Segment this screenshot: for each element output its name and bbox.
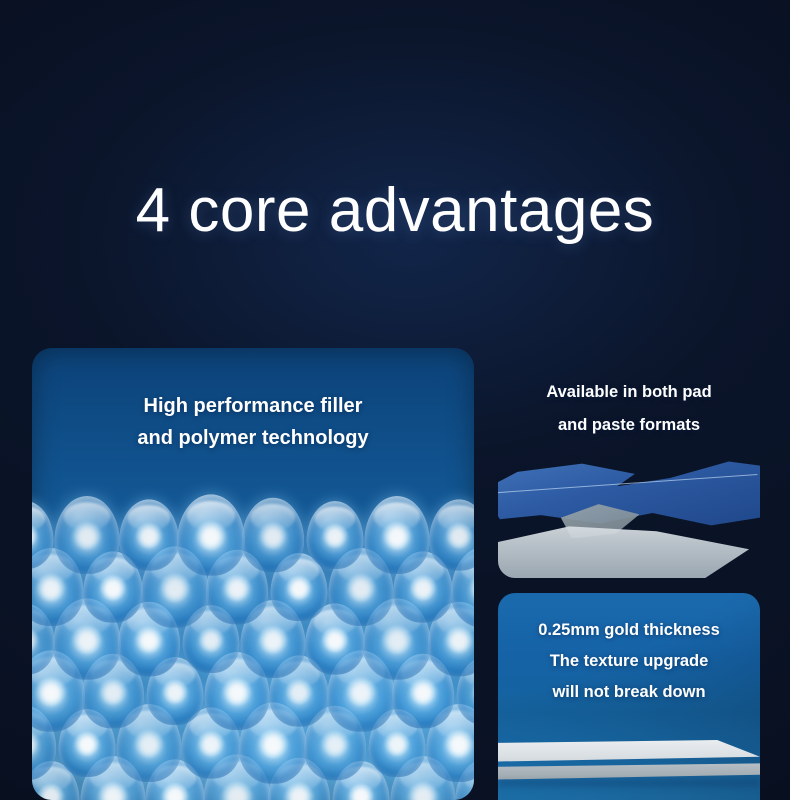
bubble-dome xyxy=(32,501,54,569)
bubble-row xyxy=(32,498,474,560)
advantage-card-right-top-line-2: and paste formats xyxy=(498,409,760,442)
advantage-card-right-top-text: Available in both pad and paste formats xyxy=(498,350,760,442)
advantage-card-right-bottom-line-3: will not break down xyxy=(498,677,760,708)
bubble-dome xyxy=(242,498,305,573)
advantage-card-right-bottom-line-1: 0.25mm gold thickness xyxy=(498,615,760,646)
bubble-dome xyxy=(364,496,429,574)
advantage-card-left-line-2: and polymer technology xyxy=(32,422,474,454)
advantage-card-high-performance-filler[interactable]: High performance filler and polymer tech… xyxy=(32,348,474,800)
advantage-card-gold-thickness[interactable]: 0.25mm gold thickness The texture upgrad… xyxy=(498,593,760,800)
bubble-array-image xyxy=(32,506,474,800)
advantage-card-right-bottom-line-2: The texture upgrade xyxy=(498,646,760,677)
bubble-dome xyxy=(54,496,119,574)
thermal-pad-slab-image xyxy=(498,708,760,800)
bubble-dome xyxy=(306,501,363,569)
advantage-card-right-top-line-1: Available in both pad xyxy=(498,376,760,409)
slab-shadow xyxy=(498,780,760,790)
bubble-dome xyxy=(177,494,245,575)
advantage-card-left-line-1: High performance filler xyxy=(32,390,474,422)
product-advantages-page: 4 core advantages High performance fille… xyxy=(0,0,790,800)
advantage-card-right-bottom-text: 0.25mm gold thickness The texture upgrad… xyxy=(498,593,760,708)
advantage-card-pad-and-paste-formats[interactable]: Available in both pad and paste formats xyxy=(498,350,760,578)
bubble-dome xyxy=(119,499,179,570)
bubble-dome xyxy=(429,499,474,570)
advantage-card-left-text: High performance filler and polymer tech… xyxy=(32,348,474,454)
film-sheet-image xyxy=(498,446,760,578)
page-title: 4 core advantages xyxy=(0,178,790,243)
